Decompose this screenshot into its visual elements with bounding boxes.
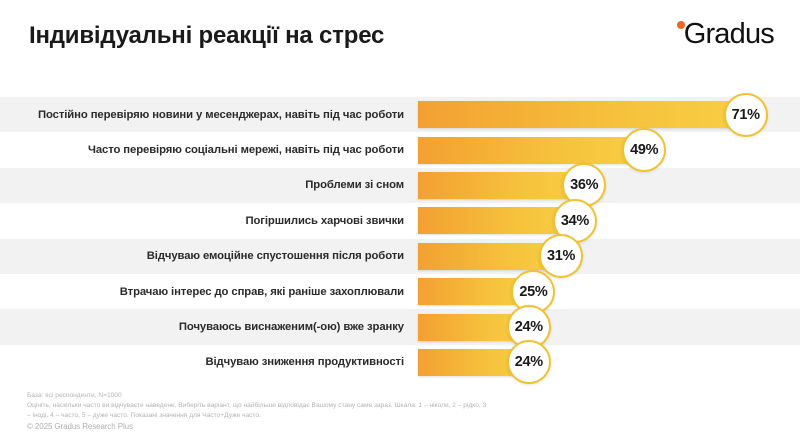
horizontal-bar-chart: Постійно перевіряю новини у месенджерах,… [0, 97, 800, 380]
bar-value-badge: 31% [539, 234, 583, 278]
footnotes: База: всі респонденти, N=1000 Оцініть, н… [27, 391, 487, 431]
chart-row: Постійно перевіряю новини у месенджерах,… [0, 97, 800, 132]
bar-track: 34% [418, 207, 778, 234]
bar-value-badge: 71% [724, 93, 768, 137]
footnote-copyright: © 2025 Gradus Research Plus [27, 422, 487, 431]
footnote-base: База: всі респонденти, N=1000 [27, 391, 487, 400]
bar-category-label: Почуваюсь виснаженим(-ою) вже зранку [0, 321, 404, 333]
page-header: Індивідуальні реакції на стрес Gradus [0, 0, 800, 74]
bar-category-label: Постійно перевіряю новини у месенджерах,… [0, 109, 404, 121]
bar-category-label: Проблеми зі сном [0, 179, 404, 191]
bar-category-label: Втрачаю інтерес до справ, які раніше зах… [0, 286, 404, 298]
bar-track: 71% [418, 101, 778, 128]
footnote-question: Оцініть, наскільки часто ви відчуваєте н… [27, 401, 487, 420]
bar[interactable] [418, 101, 746, 128]
bar-category-label: Погіршились харчові звички [0, 215, 404, 227]
bar-track: 25% [418, 278, 778, 305]
logo-wordmark: Gradus [684, 20, 774, 49]
bar-category-label: Часто перевіряю соціальні мережі, навіть… [0, 144, 404, 156]
bar-category-label: Відчуваю зниження продуктивності [0, 356, 404, 368]
chart-row: Проблеми зі сном36% [0, 168, 800, 203]
bar-track: 24% [418, 349, 778, 376]
chart-row: Відчуваю емоційне спустошення після робо… [0, 239, 800, 274]
bar-category-label: Відчуваю емоційне спустошення після робо… [0, 250, 404, 262]
bar-track: 36% [418, 172, 778, 199]
page-title: Індивідуальні реакції на стрес [29, 22, 384, 50]
chart-row: Почуваюсь виснаженим(-ою) вже зранку24% [0, 309, 800, 344]
bar-track: 31% [418, 243, 778, 270]
chart-row: Часто перевіряю соціальні мережі, навіть… [0, 132, 800, 167]
bar[interactable] [418, 137, 644, 164]
bar-track: 24% [418, 314, 778, 341]
chart-row: Погіршились харчові звички34% [0, 203, 800, 238]
chart-row: Відчуваю зниження продуктивності24% [0, 345, 800, 380]
chart-row: Втрачаю інтерес до справ, які раніше зах… [0, 274, 800, 309]
gradus-logo: Gradus [677, 20, 774, 54]
bar-value-badge: 24% [507, 340, 551, 384]
bar-track: 49% [418, 137, 778, 164]
bar[interactable] [418, 207, 575, 234]
bar[interactable] [418, 172, 584, 199]
bar-value-badge: 49% [622, 128, 666, 172]
